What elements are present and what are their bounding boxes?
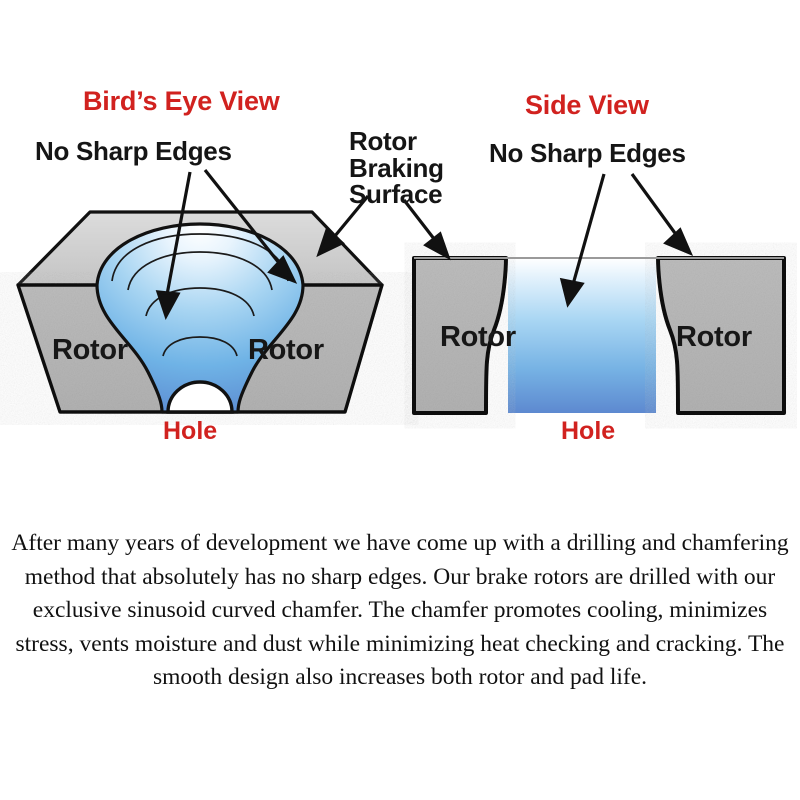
rotor-braking-surface-label: Rotor Braking Surface <box>349 128 444 208</box>
chamfer-funnel <box>97 224 303 412</box>
rotor-label-right-1: Rotor <box>440 321 516 354</box>
birds-eye-block <box>18 170 382 412</box>
description-paragraph: After many years of development we have … <box>8 527 792 695</box>
side-view-block <box>404 174 784 413</box>
no-sharp-edges-label-right: No Sharp Edges <box>489 140 686 167</box>
arrow-no-sharp-edges-left-b <box>205 170 294 281</box>
rotor-label-left-2: Rotor <box>248 334 324 367</box>
hole-notch <box>168 382 232 412</box>
arrow-no-sharp-edges-right-b <box>632 174 690 253</box>
side-view-title: Side View <box>525 92 649 120</box>
rotor-braking-surface-face <box>18 212 382 285</box>
arrow-no-sharp-edges-left-a <box>158 172 190 316</box>
birds-eye-view-title: Bird’s Eye View <box>83 88 280 116</box>
hole-label-right: Hole <box>561 419 615 445</box>
hole-label-left: Hole <box>163 419 217 445</box>
diagram-canvas: Bird’s Eye View No Sharp Edges Rotor Bra… <box>0 0 800 800</box>
rotor-label-left-1: Rotor <box>52 334 128 367</box>
arrow-no-sharp-edges-right-a <box>562 174 604 304</box>
rotor-label-right-2: Rotor <box>676 321 752 354</box>
hole-column <box>508 258 656 413</box>
no-sharp-edges-label-left: No Sharp Edges <box>35 138 232 165</box>
